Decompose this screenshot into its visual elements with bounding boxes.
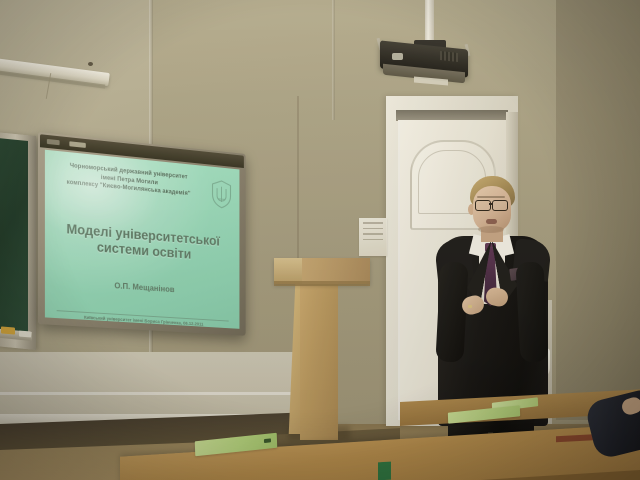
university-coat-of-arms-icon (210, 179, 233, 210)
notice-line (363, 239, 383, 241)
yellow-chalk[interactable] (1, 326, 15, 334)
presenter-ring (468, 305, 472, 308)
lectern-top-edge (274, 281, 370, 286)
wall-notice (359, 218, 387, 256)
projector-vent (440, 51, 458, 62)
handout-mark (264, 438, 271, 443)
presenter-arm-right (515, 261, 548, 362)
lectern-column (300, 284, 338, 440)
presenter-brow (477, 196, 505, 198)
toolbar-button-icon[interactable] (69, 141, 85, 148)
projector-lens (392, 53, 403, 60)
presenter-chin-shadow (478, 226, 504, 233)
presenter-mouth (486, 219, 497, 224)
white-chalk[interactable] (19, 330, 31, 337)
wainscot-moulding (0, 392, 300, 395)
toolbar-button-icon[interactable] (47, 139, 60, 145)
notice-line (363, 222, 383, 224)
slide-title: Моделі університетської системи освіти (51, 220, 234, 266)
interactive-whiteboard[interactable]: Чорноморський державний університет імен… (38, 132, 246, 336)
notice-line (363, 228, 383, 230)
slide-header: Чорноморський державний університет імен… (55, 161, 202, 200)
eyeglasses-lens-right-icon (492, 200, 508, 211)
lecture-room-photo: Чорноморський державний університет імен… (0, 0, 640, 480)
wall-seam-upper (332, 0, 335, 120)
notice-line (363, 233, 383, 235)
table-leg (378, 462, 391, 480)
projector-mount-pole (425, 0, 434, 44)
slide-author: О.П. Мещанінов (51, 277, 234, 298)
right-wall-recess (556, 0, 640, 420)
eyeglasses-lens-left-icon (475, 200, 491, 211)
projected-slide: Чорноморський державний університет імен… (45, 150, 240, 329)
green-chalkboard[interactable] (0, 137, 28, 339)
roller-mount-bolt (88, 62, 93, 66)
